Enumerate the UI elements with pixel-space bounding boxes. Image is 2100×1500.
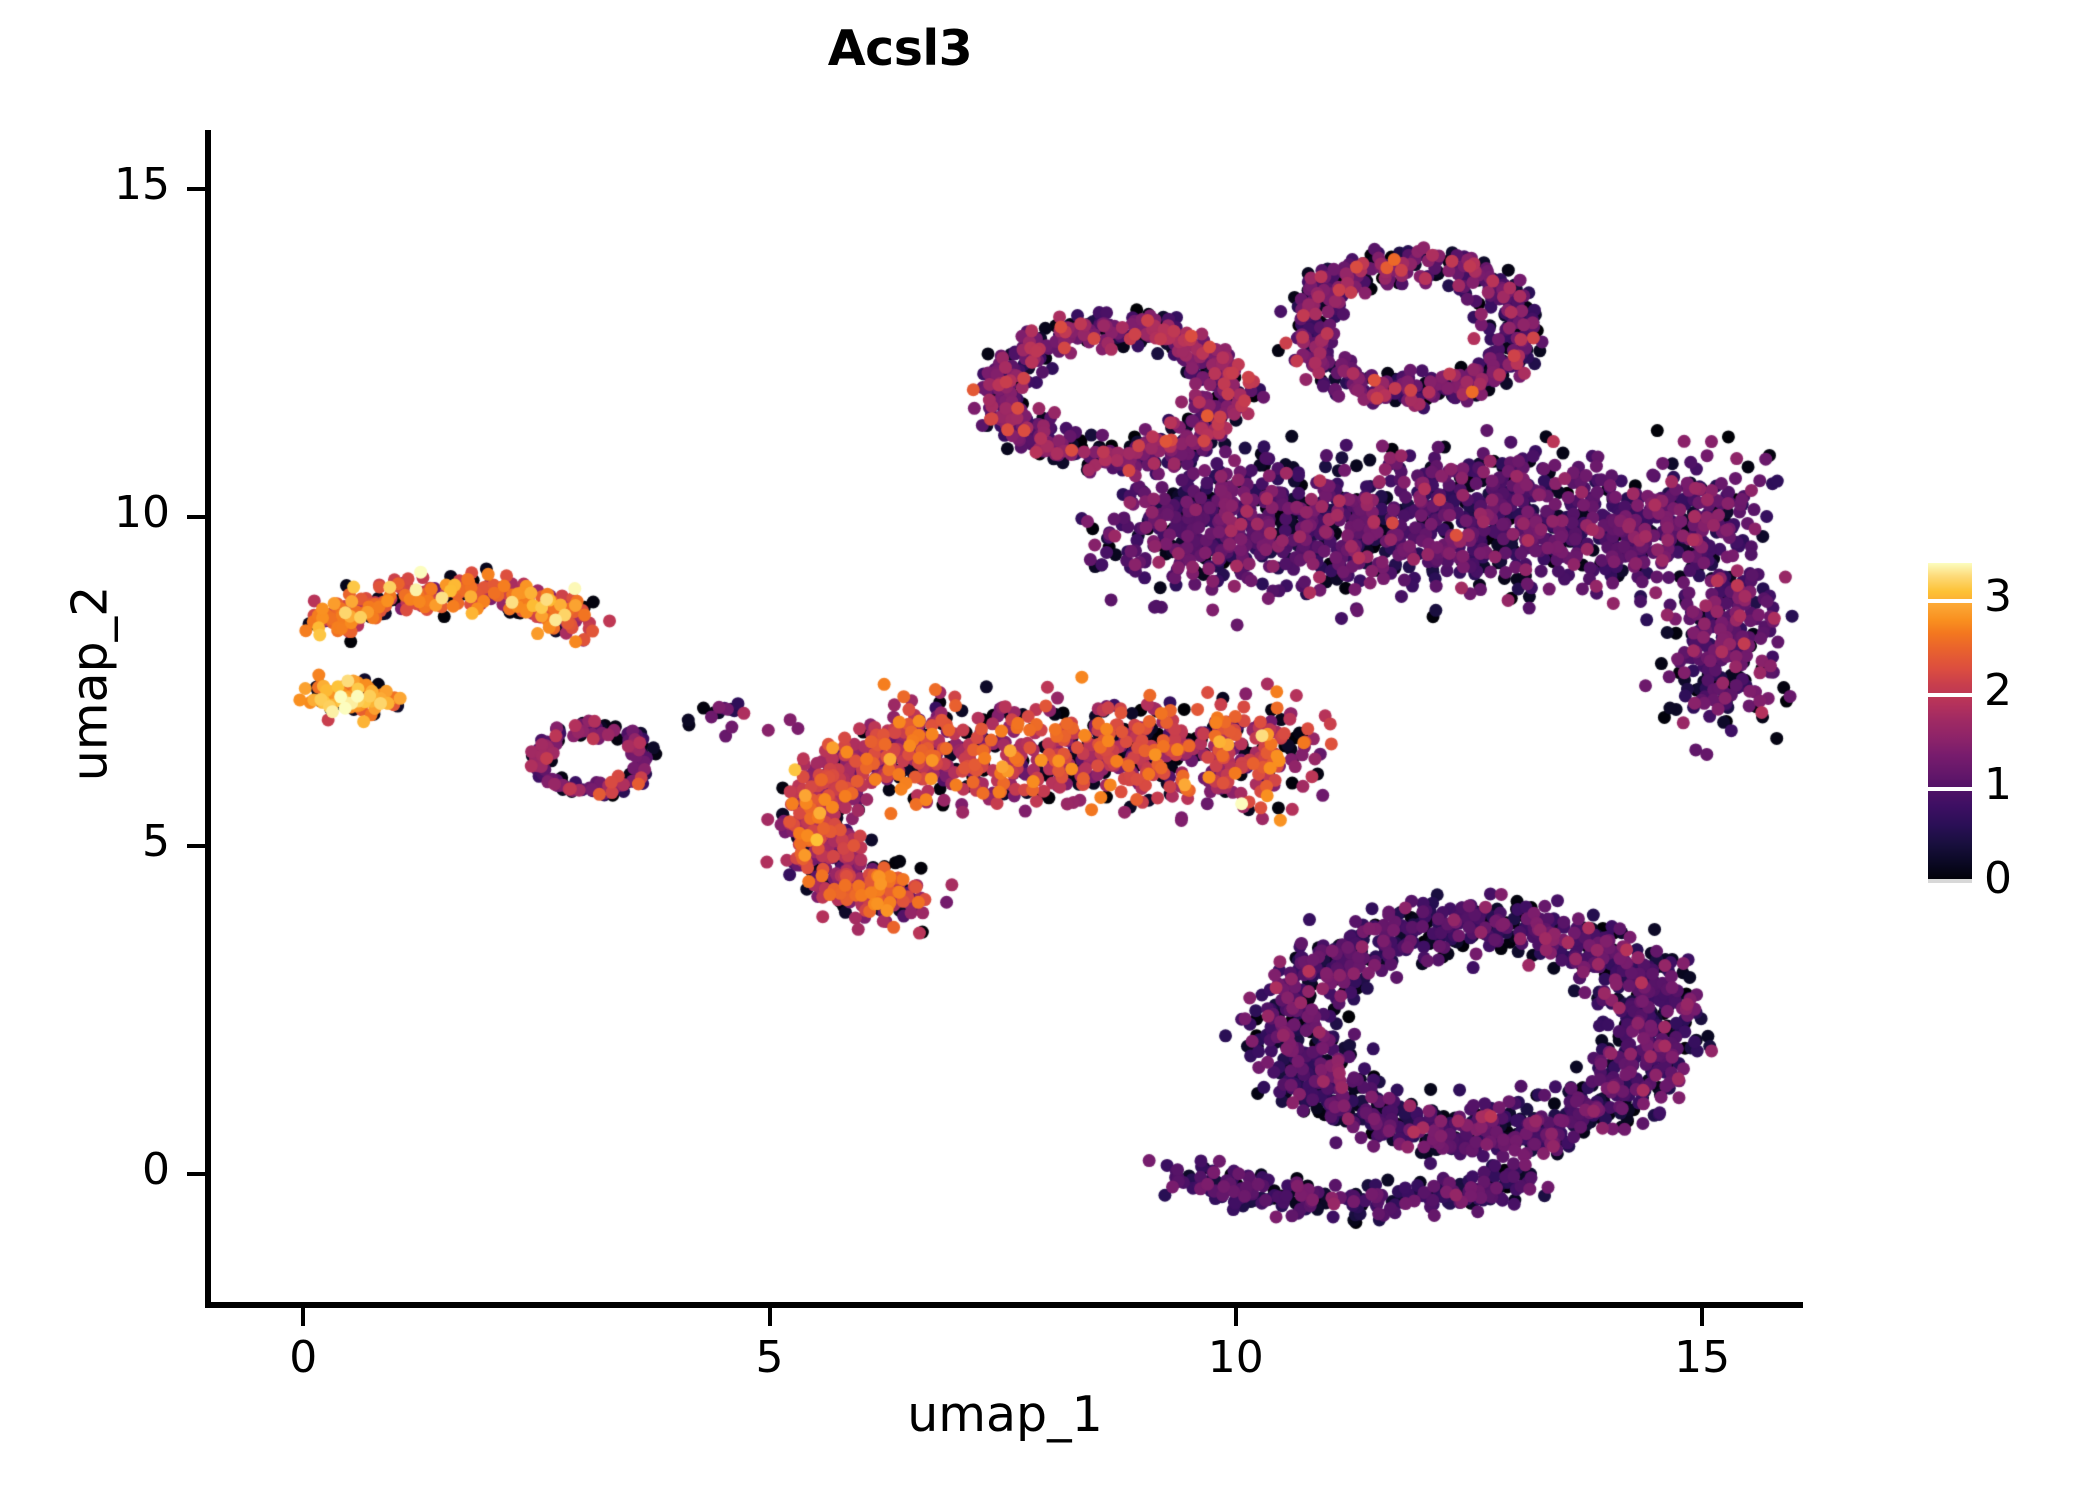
y-tick-label: 15 — [0, 159, 170, 210]
x-tick-mark — [768, 1308, 772, 1326]
y-axis-line — [205, 130, 211, 1308]
x-tick-mark — [1234, 1308, 1238, 1326]
colorbar-gradient — [1928, 563, 1972, 883]
colorbar-tick-label: 2 — [1984, 665, 2012, 716]
colorbar-tick-mark — [1928, 599, 1972, 603]
y-tick-mark — [187, 844, 205, 848]
y-axis-label: umap_2 — [62, 284, 119, 1084]
y-tick-label: 0 — [0, 1144, 170, 1195]
y-tick-mark — [187, 187, 205, 191]
scatter-points-canvas — [210, 130, 1800, 1305]
y-tick-mark — [187, 515, 205, 519]
colorbar-tick-mark — [1928, 787, 1972, 791]
colorbar-tick-mark — [1928, 693, 1972, 697]
colorbar-tick-label: 1 — [1984, 759, 2012, 810]
page-title: Acsl3 — [0, 20, 1800, 77]
x-tick-mark — [1700, 1308, 1704, 1326]
y-tick-mark — [187, 1172, 205, 1176]
x-tick-label: 10 — [1176, 1332, 1296, 1383]
x-tick-label: 5 — [710, 1332, 830, 1383]
colorbar-tick-label: 3 — [1984, 571, 2012, 622]
x-axis-label: umap_1 — [210, 1386, 1800, 1443]
x-tick-mark — [301, 1308, 305, 1326]
scatter-plot-area — [210, 130, 1800, 1305]
colorbar-tick-mark — [1928, 879, 1972, 883]
x-axis-line — [205, 1302, 1803, 1308]
colorbar: 0123 — [1928, 563, 1972, 883]
umap-feature-plot: Acsl3 051015 051015 umap_1 umap_2 0123 — [0, 0, 2100, 1500]
colorbar-tick-label: 0 — [1984, 853, 2012, 904]
x-tick-label: 0 — [243, 1332, 363, 1383]
x-tick-label: 15 — [1642, 1332, 1762, 1383]
